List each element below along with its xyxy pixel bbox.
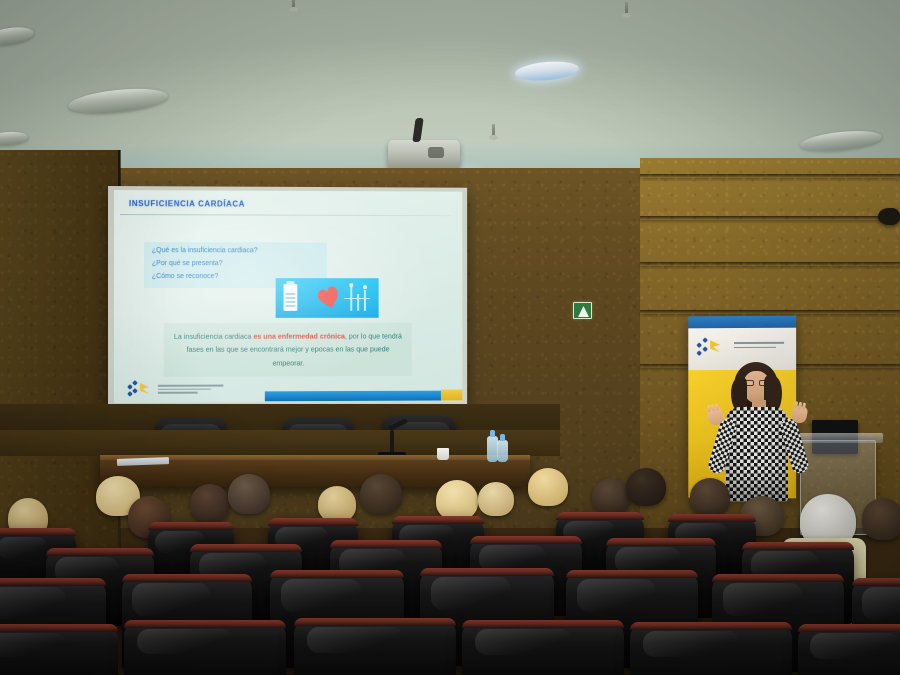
projection-screen-frame: INSUFICIENCIA CARDÍACA ¿Qué es la insufi… — [108, 186, 467, 409]
banner-top-bar — [688, 316, 796, 329]
chart-bar — [357, 294, 359, 311]
sprinkler — [292, 0, 295, 10]
chart-bar — [364, 290, 366, 311]
institution-logo-icon — [697, 338, 721, 356]
audience-head — [690, 478, 730, 516]
heart-health-illustration — [276, 278, 379, 318]
audience-head — [436, 480, 478, 520]
dot-marker — [349, 283, 353, 287]
clipboard-icon — [284, 284, 298, 311]
auditorium-seat[interactable] — [798, 624, 900, 675]
ceiling-light — [0, 25, 35, 48]
banner-logo-text — [734, 342, 784, 352]
audience-head — [478, 482, 514, 516]
audience-head — [528, 468, 568, 506]
slide-title: INSUFICIENCIA CARDÍACA — [129, 199, 245, 208]
paragraph-highlight: es una enfermedad crónica — [253, 332, 344, 341]
audience-head — [318, 486, 356, 522]
ceiling-light — [514, 59, 579, 83]
ceiling-light — [67, 85, 169, 117]
auditorium-photo: INSUFICIENCIA CARDÍACA ¿Qué es la insufi… — [0, 0, 900, 675]
institution-logo-icon — [128, 381, 150, 397]
slide-divider — [120, 214, 451, 216]
slide-bottom-bar-accent — [441, 390, 462, 401]
stage-floor — [0, 430, 560, 456]
paragraph-lead: La insuficiencia cardiaca — [174, 332, 254, 341]
projection-screen: INSUFICIENCIA CARDÍACA ¿Qué es la insufi… — [114, 190, 462, 403]
audience-area — [0, 456, 900, 675]
audience-head — [862, 498, 900, 540]
emergency-exit-sign — [573, 302, 592, 319]
dot-marker — [363, 285, 367, 289]
ceiling-projector — [388, 140, 460, 170]
audience-head — [626, 468, 666, 506]
audience-head — [360, 474, 402, 514]
baseline — [344, 298, 369, 299]
auditorium-seat[interactable] — [462, 620, 624, 675]
slide-paragraph: La insuficiencia cardiaca es una enferme… — [174, 330, 402, 370]
slide-paragraph-box: La insuficiencia cardiaca es una enferme… — [164, 323, 412, 377]
institution-logo-text — [158, 385, 223, 396]
heart-icon — [314, 283, 343, 311]
speaker-hand-right — [791, 405, 809, 424]
slide-question-2: ¿Por qué se presenta? — [152, 260, 319, 268]
slide-question-1: ¿Qué es la insuficiencia cardiaca? — [152, 247, 319, 255]
slide-footer — [114, 374, 462, 403]
ceiling-light — [0, 131, 28, 147]
auditorium-seat[interactable] — [294, 618, 456, 675]
auditorium-seat[interactable] — [0, 624, 118, 675]
audience-head — [190, 484, 230, 522]
auditorium-seat[interactable] — [124, 620, 286, 675]
auditorium-seat[interactable] — [630, 622, 792, 675]
exit-pictogram-icon — [578, 306, 589, 317]
security-camera — [878, 208, 900, 225]
sprinkler — [625, 2, 628, 16]
audience-head — [592, 478, 630, 514]
slide-bottom-bar — [265, 391, 462, 402]
ceiling-light — [799, 128, 882, 154]
sprinkler — [492, 124, 495, 138]
audience-head — [228, 474, 270, 514]
